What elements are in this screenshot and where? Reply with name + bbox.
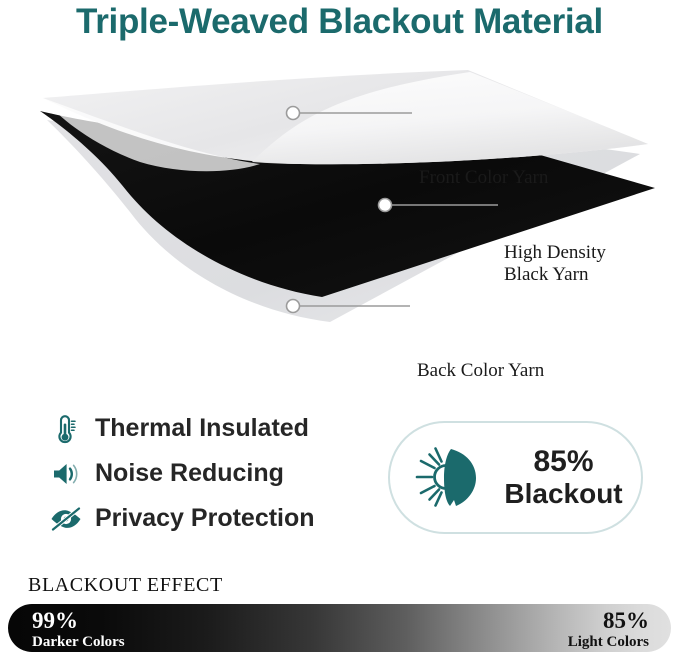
- label-front-color-yarn: Front Color Yarn: [419, 167, 548, 189]
- bar-right-group: 85% Light Colors: [568, 609, 649, 650]
- sun-rays: [417, 448, 442, 505]
- label-high-density-black-yarn: High Density Black Yarn: [504, 242, 606, 286]
- feature-item-thermal-insulated: Thermal Insulated: [45, 406, 375, 451]
- blackout-effect-bar: 99% Darker Colors 85% Light Colors: [8, 604, 671, 652]
- label-black-line1: High Density: [504, 242, 606, 263]
- bar-right-label: Light Colors: [568, 634, 649, 650]
- sun-blocked-icon: [406, 441, 492, 515]
- bar-left-group: 99% Darker Colors: [32, 609, 125, 650]
- blackout-badge: 85% Blackout: [388, 421, 643, 534]
- eye-slash-icon: [45, 500, 87, 538]
- feature-list: Thermal Insulated Noise Reducing: [45, 406, 375, 541]
- fabric-layers-illustration: [0, 62, 679, 362]
- bar-right-percent: 85%: [568, 609, 649, 634]
- feature-label: Privacy Protection: [95, 504, 315, 533]
- thermometer-icon: [45, 410, 87, 448]
- product-infographic: Triple-Weaved Blackout Material: [0, 0, 679, 655]
- feature-label: Noise Reducing: [95, 459, 284, 488]
- bar-left-label: Darker Colors: [32, 634, 125, 650]
- page-title: Triple-Weaved Blackout Material: [0, 2, 679, 42]
- feature-label: Thermal Insulated: [95, 414, 309, 443]
- curtain-shape: [444, 449, 476, 506]
- label-black-line2: Black Yarn: [504, 264, 606, 286]
- bar-left-percent: 99%: [32, 609, 125, 634]
- blackout-effect-title: BLACKOUT EFFECT: [28, 574, 223, 597]
- feature-item-noise-reducing: Noise Reducing: [45, 451, 375, 496]
- speaker-icon: [45, 455, 87, 493]
- blackout-badge-text: 85% Blackout: [492, 446, 635, 509]
- feature-item-privacy-protection: Privacy Protection: [45, 496, 375, 541]
- fabric-layer-diagram: Front Color Yarn High Density Black Yarn…: [0, 62, 679, 362]
- label-back-color-yarn: Back Color Yarn: [417, 360, 544, 382]
- blackout-percent: 85%: [492, 446, 635, 478]
- blackout-word: Blackout: [492, 479, 635, 509]
